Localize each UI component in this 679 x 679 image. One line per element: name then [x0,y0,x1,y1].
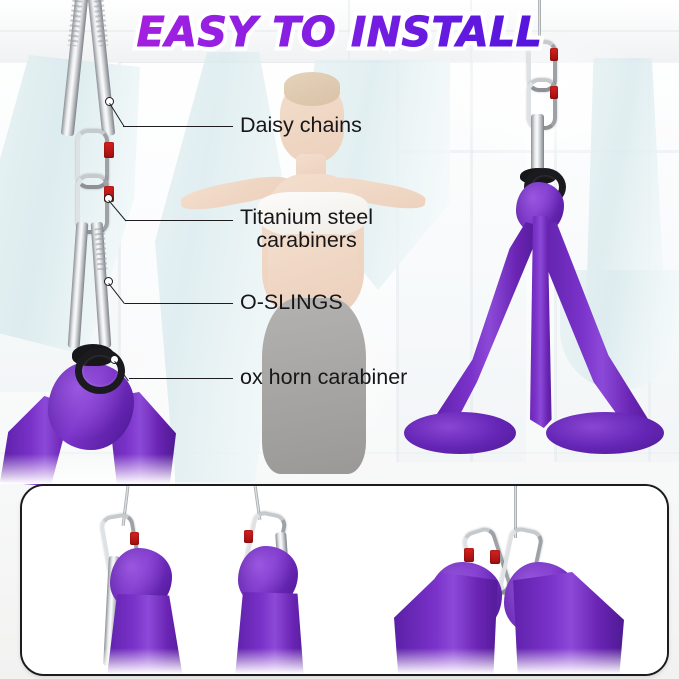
o-sling-strap-left [68,222,89,349]
callout-label-ox-horn-carabiner: ox horn carabiner [240,366,407,389]
model-hair-bun [284,72,340,106]
callout-label-titanium-carabiners: Titanium steel carabiners [240,206,373,252]
left-hardware-stack [62,0,126,376]
right-hammock [398,0,679,462]
right-silk-pool-left [404,412,516,454]
detail-bottom-fade [392,648,667,674]
callout-label-line-2: carabiners [240,229,373,252]
detail-carabiner-lock-right [490,550,500,564]
callout-leader-daisy-chains [123,126,233,127]
callout-leader-ox-horn-carabiner [129,378,233,379]
silk-bottom-fade [0,454,175,484]
right-silk-tail-right [534,222,658,444]
carabiner-screw-lock-upper [104,142,114,158]
detail-double-knot [392,486,667,674]
o-sling-stitching [94,228,107,273]
callout-label-o-slings: O-SLINGS [240,291,343,314]
detail-bottom-fade [222,648,412,674]
callout-label-line-1: Titanium steel [240,206,373,229]
detail-single-knot-left [48,486,228,674]
detail-carabiner-lock [244,530,253,543]
page-title-text: EASY TO INSTALL [137,8,543,56]
callout-leader-o-slings [125,303,233,304]
right-carabiner-lock-lower [550,86,558,99]
detail-photo-panel [20,484,669,676]
right-o-sling [531,114,544,176]
detail-carabiner-lock-left [464,548,474,562]
detail-carabiner-lock [130,532,139,545]
page-title: EASY TO INSTALL EASY TO INSTALL [0,12,679,53]
callout-label-daisy-chains: Daisy chains [240,114,362,137]
detail-bottom-fade [48,648,228,674]
product-infographic: EASY TO INSTALL EASY TO INSTALL Daisy ch… [0,0,679,679]
callout-leader-titanium-carabiners [126,220,233,221]
detail-single-knot-right [222,486,412,674]
o-ring [75,348,125,394]
right-silk-pool-right [546,412,664,454]
right-silk-tail-left [426,222,542,444]
